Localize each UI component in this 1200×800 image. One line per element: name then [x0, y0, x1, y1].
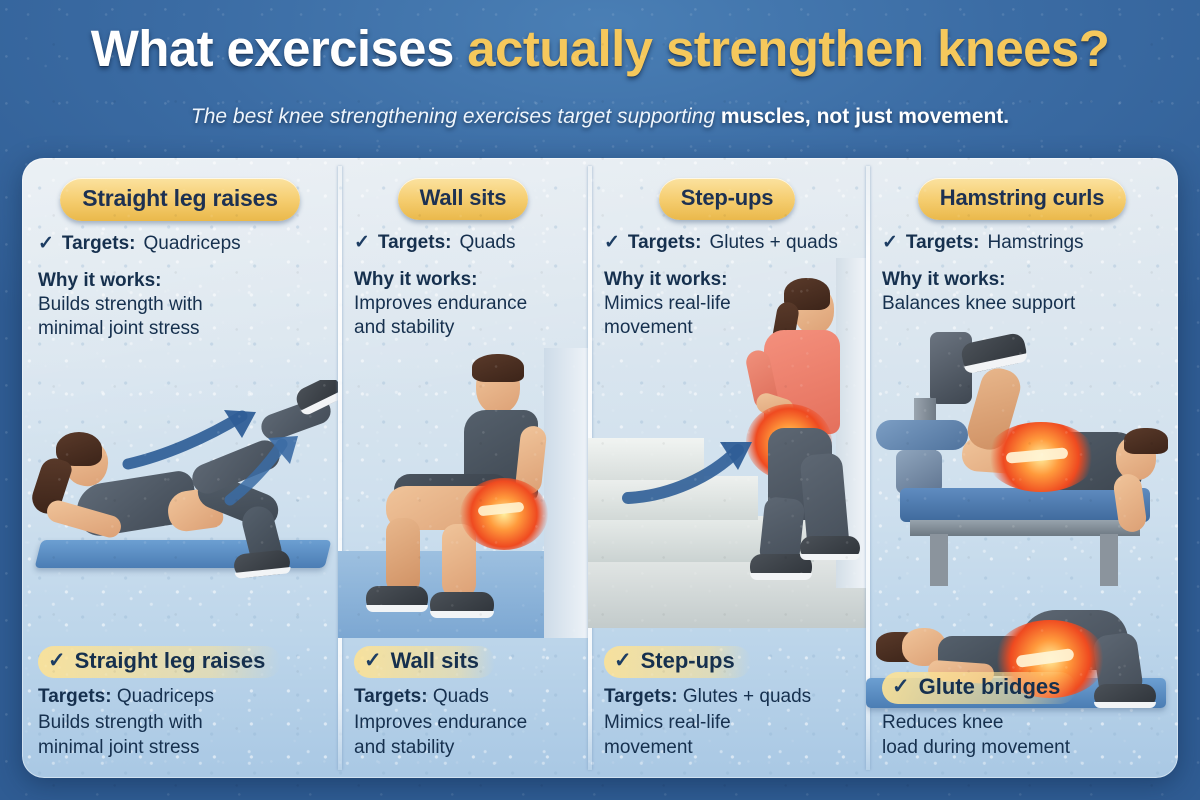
title-white-part: What exercises [91, 20, 454, 77]
exercise-columns: Straight leg raises ✓ Targets: Quadricep… [22, 158, 1178, 778]
summary-title-2: Wall sits [391, 648, 479, 674]
why-label: Why it works: [882, 268, 1164, 292]
pill-container: Straight leg raises [22, 158, 338, 221]
check-icon: ✓ [614, 650, 632, 671]
illustration-straight-leg-raise [28, 380, 338, 610]
check-icon: ✓ [892, 676, 910, 697]
targets-value-4: Hamstrings [987, 232, 1083, 254]
pill-container: Wall sits [338, 158, 588, 220]
check-icon: ✓ [604, 233, 620, 252]
targets-value-2: Quads [459, 232, 515, 254]
knee-pain-glow [460, 478, 548, 550]
content-board: Straight leg raises ✓ Targets: Quadricep… [22, 158, 1178, 778]
summary-block-1: ✓ Straight leg raises Targets: Quadricep… [22, 646, 338, 760]
subtitle-bold-part: muscles, not just movement. [721, 105, 1009, 128]
exercise-info-1: ✓ Targets: Quadriceps Why it works: Buil… [22, 221, 338, 341]
summary-line-3b: movement [604, 735, 852, 760]
pill-container: Hamstring curls [866, 158, 1178, 220]
why-block-2: Why it works: Improves endurance and sta… [354, 268, 574, 340]
exercise-info-4: ✓ Targets: Hamstrings Why it works: Bala… [866, 220, 1178, 316]
page-title: What exercises actually strengthen knees… [0, 22, 1200, 76]
shoe-right [430, 592, 494, 618]
infographic-poster: What exercises actually strengthen knees… [0, 0, 1200, 800]
summary-head-4: ✓ Glute bridges [882, 672, 1076, 704]
summary-line-1b: minimal joint stress [38, 735, 324, 760]
summary-targets-label-2: Targets: [354, 686, 428, 707]
targets-row-1: ✓ Targets: Quadriceps [38, 233, 324, 255]
exercise-info-2: ✓ Targets: Quads Why it works: Improves … [338, 220, 588, 340]
targets-row-2: ✓ Targets: Quads [354, 232, 574, 254]
motion-arrow-2 [224, 434, 316, 506]
summary-line-2b: and stability [354, 735, 574, 760]
exercise-column-straight-leg-raises: Straight leg raises ✓ Targets: Quadricep… [22, 158, 338, 778]
check-icon: ✓ [882, 233, 898, 252]
exercise-pill-2[interactable]: Wall sits [398, 178, 529, 220]
targets-row-4: ✓ Targets: Hamstrings [882, 232, 1164, 254]
motion-arrow-3 [624, 440, 764, 506]
hair [1124, 428, 1168, 454]
exercise-column-hamstring-curls: Hamstring curls ✓ Targets: Hamstrings Wh… [866, 158, 1178, 778]
shoe-bent-leg [233, 549, 291, 579]
hair [472, 354, 524, 382]
summary-targets-label-1: Targets: [38, 686, 112, 707]
summary-line-3a: Mimics real-life [604, 710, 852, 735]
summary-block-3: ✓ Step-ups Targets: Glutes + quads Mimic… [588, 646, 866, 760]
summary-title-3: Step-ups [641, 648, 735, 674]
targets-value-1: Quadriceps [143, 233, 240, 255]
targets-value-3: Glutes + quads [709, 232, 837, 254]
targets-row-3: ✓ Targets: Glutes + quads [604, 232, 852, 254]
summary-title-1: Straight leg raises [75, 648, 266, 674]
summary-targets-value-2: Quads [433, 686, 489, 707]
summary-targets-3: Targets: Glutes + quads [604, 684, 852, 709]
summary-line-4b: load during movement [882, 735, 1164, 760]
exercise-column-wall-sits: Wall sits ✓ Targets: Quads Why it works:… [338, 158, 588, 778]
why-line-2a: Improves endurance [354, 292, 574, 316]
why-label: Why it works: [354, 268, 574, 292]
summary-head-2: ✓ Wall sits [354, 646, 495, 678]
shin-back [386, 518, 420, 594]
summary-targets-value-1: Quadriceps [117, 686, 214, 707]
targets-label: Targets: [62, 233, 136, 255]
check-icon: ✓ [354, 233, 370, 252]
summary-line-4a: Reduces knee [882, 710, 1164, 735]
exercise-pill-3[interactable]: Step-ups [659, 178, 796, 220]
why-label: Why it works: [38, 269, 324, 293]
summary-title-4: Glute bridges [919, 674, 1061, 700]
summary-targets-2: Targets: Quads [354, 684, 574, 709]
exercise-pill-4[interactable]: Hamstring curls [918, 178, 1127, 220]
targets-label: Targets: [628, 232, 702, 254]
summary-head-3: ✓ Step-ups [604, 646, 751, 678]
page-subtitle: The best knee strengthening exercises ta… [0, 105, 1200, 129]
exercise-pill-1[interactable]: Straight leg raises [60, 178, 300, 221]
check-icon: ✓ [364, 650, 382, 671]
summary-line-2a: Improves endurance [354, 710, 574, 735]
why-block-1: Why it works: Builds strength with minim… [38, 269, 324, 341]
illustration-step-ups [588, 258, 866, 628]
targets-label: Targets: [906, 232, 980, 254]
summary-line-1a: Builds strength with [38, 710, 324, 735]
subtitle-italic-part: The best knee strengthening exercises ta… [191, 105, 721, 128]
wall-surface [544, 348, 588, 638]
stair-step-1 [588, 558, 866, 628]
summary-block-2: ✓ Wall sits Targets: Quads Improves endu… [338, 646, 588, 760]
why-block-4: Why it works: Balances knee support [882, 268, 1164, 316]
exercise-column-step-ups: Step-ups ✓ Targets: Glutes + quads Why i… [588, 158, 866, 778]
summary-targets-value-3: Glutes + quads [683, 686, 811, 707]
why-line-2b: and stability [354, 316, 574, 340]
check-icon: ✓ [48, 650, 66, 671]
poster-header: What exercises actually strengthen knees… [0, 0, 1200, 152]
illustration-wall-sit [338, 348, 588, 638]
roller-pad [876, 420, 968, 450]
shoe-back [800, 536, 860, 560]
why-line-1a: Builds strength with [38, 293, 324, 317]
summary-targets-label-3: Targets: [604, 686, 678, 707]
why-line-1b: minimal joint stress [38, 317, 324, 341]
bench-pad [900, 488, 1150, 522]
title-yellow-part: actually strengthen knees? [467, 20, 1109, 77]
why-line-4a: Balances knee support [882, 292, 1164, 316]
summary-targets-1: Targets: Quadriceps [38, 684, 324, 709]
targets-label: Targets: [378, 232, 452, 254]
pill-container: Step-ups [588, 158, 866, 220]
check-icon: ✓ [38, 234, 54, 253]
summary-head-1: ✓ Straight leg raises [38, 646, 281, 678]
summary-block-4: ✓ Glute bridges Reduces knee load during… [866, 672, 1178, 760]
shoe-left [366, 586, 428, 612]
